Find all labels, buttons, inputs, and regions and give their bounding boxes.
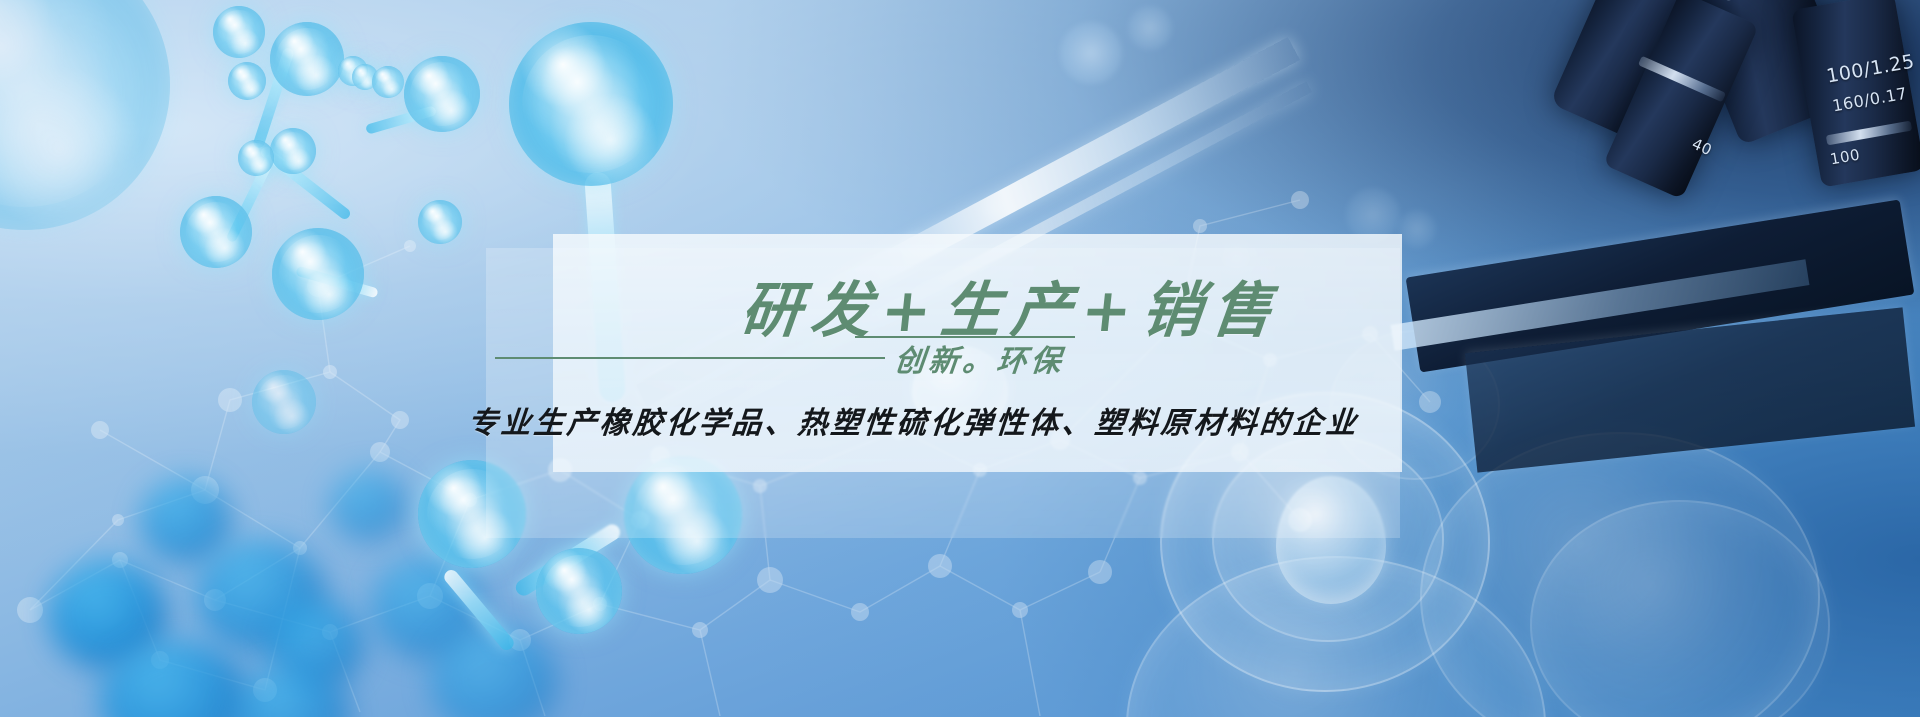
company-description: 专业生产橡胶化学品、热塑性硫化弹性体、塑料原材料的企业 — [466, 398, 1361, 442]
microscope: 100/1.25 160/0.17 40 100 — [1530, 0, 1920, 390]
objective-mark-tube-length: 160/0.17 — [1831, 84, 1909, 116]
tagline-rule-right — [855, 336, 1075, 338]
tagline-rule-left — [495, 357, 885, 359]
microscope-slide — [1391, 259, 1810, 350]
objective-mark-aperture: 100/1.25 — [1825, 50, 1916, 87]
tagline-text: 创新。环保 — [883, 336, 1078, 380]
objective-mark-magnification-40: 40 — [1689, 135, 1715, 160]
hero-banner: 100/1.25 160/0.17 40 100 研发+生产+销售 创新。环保 … — [0, 0, 1920, 717]
tagline-rule-right-wrap — [855, 336, 1075, 338]
objective-lens — [1603, 0, 1759, 199]
objective-mark-magnification-100: 100 — [1829, 146, 1862, 169]
molecule-sphere-large — [509, 22, 673, 186]
tagline-row: 创新。环保 — [495, 336, 1075, 380]
microscope-stage — [1406, 199, 1915, 372]
